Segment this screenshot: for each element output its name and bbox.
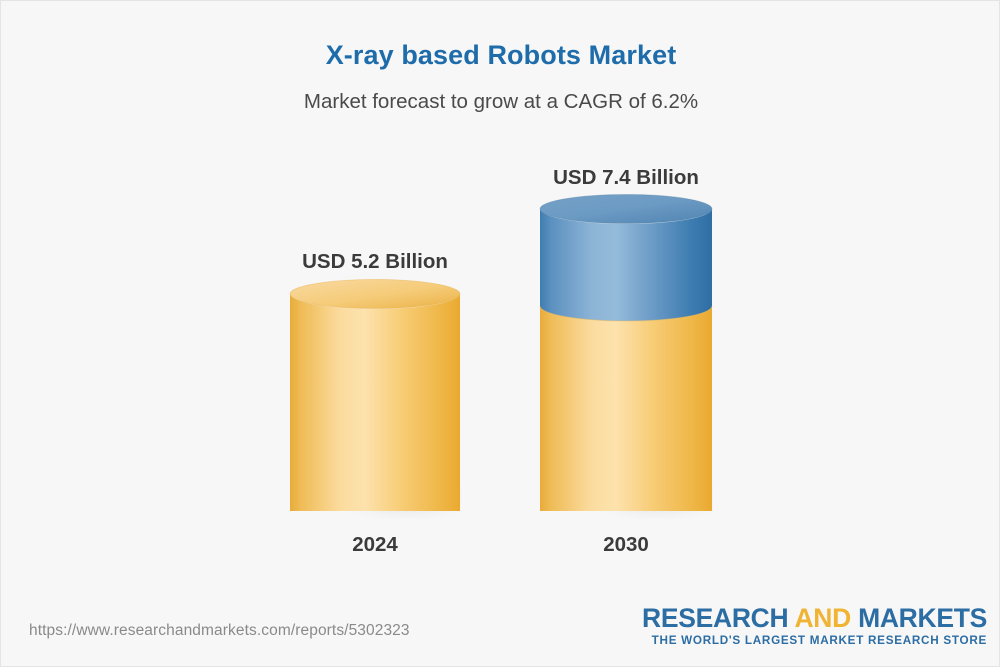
brand-logo[interactable]: RESEARCH AND MARKETS THE WORLD'S LARGEST… — [642, 605, 987, 647]
brand-word-markets: MARKETS — [858, 603, 987, 633]
brand-name: RESEARCH AND MARKETS — [642, 605, 987, 633]
cylinder-2030[interactable] — [539, 194, 713, 519]
plot-area: USD 5.2 Billion — [1, 1, 1000, 601]
category-label-2024: 2024 — [289, 533, 461, 557]
value-label-2024: USD 5.2 Billion — [289, 250, 461, 274]
value-label-2030: USD 7.4 Billion — [539, 166, 713, 190]
cylinder-2024[interactable] — [289, 279, 461, 519]
brand-tagline: THE WORLD'S LARGEST MARKET RESEARCH STOR… — [642, 634, 987, 647]
bar-group-2024: USD 5.2 Billion — [289, 1, 461, 601]
source-url-link[interactable]: https://www.researchandmarkets.com/repor… — [29, 622, 410, 640]
category-label-2030: 2030 — [539, 533, 713, 557]
cylinder-2030-growth-body — [540, 209, 712, 321]
footer: https://www.researchandmarkets.com/repor… — [1, 599, 1000, 666]
cylinder-2030-base-body — [540, 306, 712, 511]
cylinder-2024-body — [290, 294, 460, 511]
brand-word-research: RESEARCH — [642, 603, 788, 633]
brand-word-and: AND — [794, 603, 851, 633]
bar-group-2030: USD 7.4 Billion — [539, 1, 713, 601]
chart-page: X-ray based Robots Market Market forecas… — [0, 0, 1000, 667]
